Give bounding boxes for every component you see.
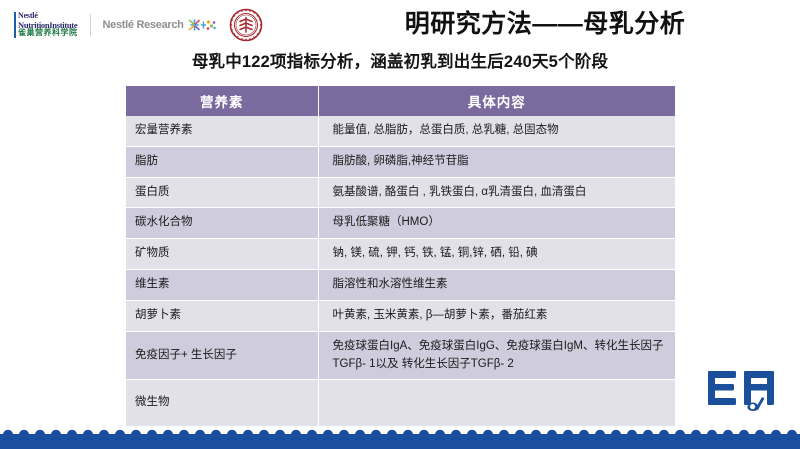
row-nutrient-content: 免疫球蛋白IgA、免疫球蛋白IgG、免疫球蛋白IgM、转化生长因子TGFβ- 1… — [318, 331, 675, 380]
row-nutrient-name: 微生物 — [126, 380, 318, 427]
row-nutrient-content: 脂肪酸, 卵磷脂,神经节苷脂 — [318, 146, 675, 177]
row-nutrient-content: 叶黄素, 玉米黄素, β—胡萝卜素，番茄红素 — [318, 300, 675, 331]
row-nutrient-name: 免疫因子+ 生长因子 — [126, 331, 318, 380]
nutrient-table: 营养素 具体内容 宏量营养素 能量值, 总脂肪，总蛋白质, 总乳糖, 总固态物 … — [126, 86, 675, 427]
row-nutrient-name: 胡萝卜素 — [126, 300, 318, 331]
row-nutrient-name: 维生素 — [126, 270, 318, 301]
table-row: 维生素 脂溶性和水溶性维生素 — [126, 270, 675, 301]
row-nutrient-name: 碳水化合物 — [126, 208, 318, 239]
nestle-research-logo: Nestlé Research — [103, 16, 217, 34]
table-row: 碳水化合物 母乳低聚糖（HMO） — [126, 208, 675, 239]
row-nutrient-content: 能量值, 总脂肪，总蛋白质, 总乳糖, 总固态物 — [318, 116, 675, 146]
row-nutrient-name: 宏量营养素 — [126, 116, 318, 146]
row-nutrient-content — [318, 380, 675, 427]
row-nutrient-name: 蛋白质 — [126, 177, 318, 208]
table-header-nutrient: 营养素 — [126, 86, 318, 116]
peking-university-seal-icon — [229, 8, 263, 42]
page-subtitle: 母乳中122项指标分析，涵盖初乳到出生后240天5个阶段 — [0, 48, 800, 72]
table-row: 宏量营养素 能量值, 总脂肪，总蛋白质, 总乳糖, 总固态物 — [126, 116, 675, 146]
nestle-nutrition-institute-logo: Nestlé NutritionInstitute 雀巢营养科学院 — [14, 12, 78, 38]
table-row: 免疫因子+ 生长因子 免疫球蛋白IgA、免疫球蛋白IgG、免疫球蛋白IgM、转化… — [126, 331, 675, 380]
page-title: 明研究方法——母乳分析 — [310, 4, 780, 40]
header-logo-strip: Nestlé NutritionInstitute 雀巢营养科学院 Nestlé… — [14, 6, 263, 44]
table-row: 胡萝卜素 叶黄素, 玉米黄素, β—胡萝卜素，番茄红素 — [126, 300, 675, 331]
nestle-research-label: Nestlé Research — [103, 19, 184, 31]
bottom-wave-decoration — [0, 429, 800, 449]
table-header-row: 营养素 具体内容 — [126, 86, 675, 116]
row-nutrient-name: 脂肪 — [126, 146, 318, 177]
nni-logo-line3: 雀巢营养科学院 — [18, 29, 78, 37]
nestle-research-pinwheel-icon — [187, 16, 217, 34]
table-header-content: 具体内容 — [318, 86, 675, 116]
row-nutrient-content: 氨基酸谱, 酪蛋白 , 乳铁蛋白, α乳清蛋白, 血清蛋白 — [318, 177, 675, 208]
table-row: 微生物 — [126, 380, 675, 427]
row-nutrient-content: 母乳低聚糖（HMO） — [318, 208, 675, 239]
row-nutrient-content: 钠, 镁, 硫, 钾, 钙, 铁, 锰, 铜,锌, 硒, 铅, 碘 — [318, 239, 675, 270]
logo-divider — [90, 14, 91, 36]
row-nutrient-content: 脂溶性和水溶性维生素 — [318, 270, 675, 301]
table-row: 矿物质 钠, 镁, 硫, 钾, 钙, 铁, 锰, 铜,锌, 硒, 铅, 碘 — [126, 239, 675, 270]
row-nutrient-name: 矿物质 — [126, 239, 318, 270]
slide-canvas: Nestlé NutritionInstitute 雀巢营养科学院 Nestlé… — [0, 0, 800, 449]
table-row: 蛋白质 氨基酸谱, 酪蛋白 , 乳铁蛋白, α乳清蛋白, 血清蛋白 — [126, 177, 675, 208]
ming-brand-logo — [706, 367, 784, 415]
table-row: 脂肪 脂肪酸, 卵磷脂,神经节苷脂 — [126, 146, 675, 177]
